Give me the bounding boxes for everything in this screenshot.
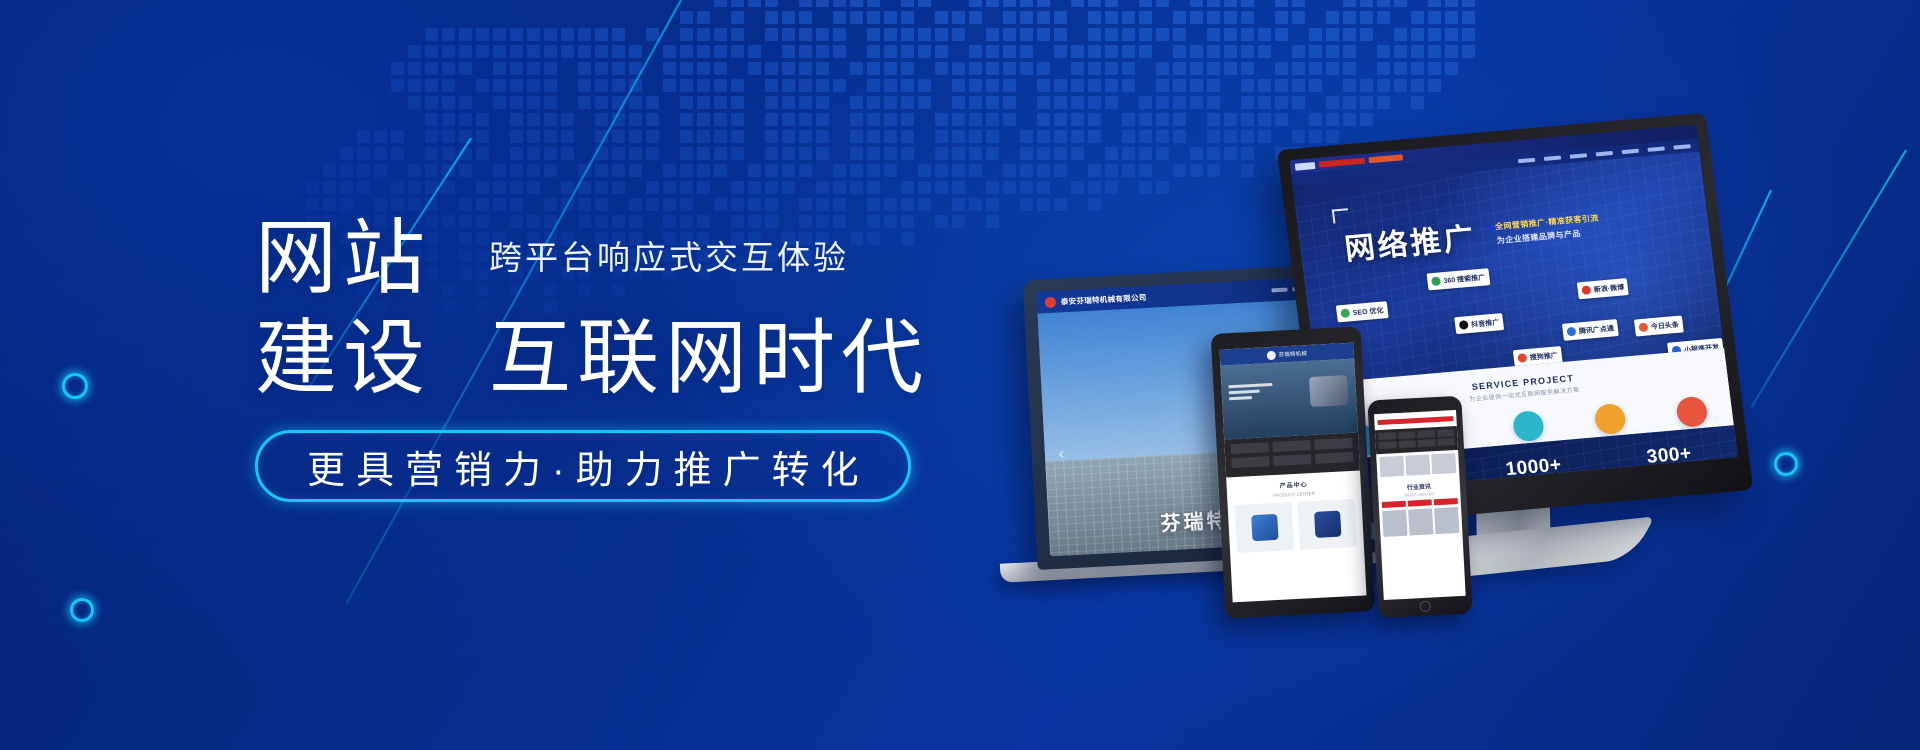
map-dot [867, 130, 880, 143]
map-dot [1258, 45, 1271, 58]
tablet-bezel: 芬瑞特机械 [1211, 326, 1376, 618]
map-dot [595, 45, 608, 58]
map-dot [493, 62, 506, 75]
map-dot [1122, 28, 1135, 41]
map-dot [595, 130, 608, 143]
map-dot [340, 181, 353, 194]
phone-grid-image[interactable] [1434, 507, 1459, 534]
phone-thumbnail[interactable] [1379, 456, 1404, 477]
map-dot [1309, 28, 1322, 41]
map-dot [765, 11, 778, 24]
map-dot [731, 45, 744, 58]
map-dot [765, 181, 778, 194]
map-dot [1224, 113, 1237, 126]
map-dot [748, 0, 761, 7]
map-dot [1156, 113, 1169, 126]
map-dot [459, 147, 472, 160]
map-dot [748, 181, 761, 194]
map-dot [1088, 79, 1101, 92]
map-dot [714, 96, 727, 109]
map-dot [1343, 45, 1356, 58]
map-dot [1428, 79, 1441, 92]
map-dot [1088, 0, 1101, 7]
map-dot [1139, 11, 1152, 24]
map-dot [1207, 113, 1220, 126]
map-dot [442, 147, 455, 160]
map-dot [1122, 45, 1135, 58]
map-dot [1309, 113, 1322, 126]
map-dot [935, 130, 948, 143]
brand-chip-swatch [1517, 353, 1527, 363]
map-dot [816, 198, 829, 211]
map-dot [799, 96, 812, 109]
map-dot [935, 147, 948, 160]
map-dot [867, 28, 880, 41]
map-dot [1207, 11, 1220, 24]
map-dot [493, 96, 506, 109]
map-dot [1224, 0, 1237, 7]
map-dot [527, 45, 540, 58]
map-dot [969, 164, 982, 177]
map-dot [1343, 28, 1356, 41]
phone-tag[interactable] [1382, 501, 1406, 508]
map-dot [561, 181, 574, 194]
map-dot [986, 181, 999, 194]
map-dot [1003, 181, 1016, 194]
map-dot [1326, 62, 1339, 75]
map-dot [1428, 11, 1441, 24]
map-dot [578, 62, 591, 75]
map-dot [748, 164, 761, 177]
map-dot [442, 79, 455, 92]
headline-accent: 互联网时代 [489, 318, 929, 400]
map-dot [986, 130, 999, 143]
map-dot [408, 164, 421, 177]
imac-nav-item[interactable] [1647, 146, 1664, 151]
map-dot [986, 79, 999, 92]
map-dot [986, 28, 999, 41]
map-dot [765, 28, 778, 41]
map-dot [476, 79, 489, 92]
map-dot [1020, 0, 1033, 7]
map-dot [1054, 164, 1067, 177]
map-dot [782, 79, 795, 92]
map-dot [629, 130, 642, 143]
map-dot [918, 28, 931, 41]
imac-nav-item[interactable] [1673, 144, 1690, 149]
phone-tag[interactable] [1434, 498, 1458, 505]
map-dot [1360, 11, 1373, 24]
map-dot [765, 62, 778, 75]
map-dot [867, 198, 880, 211]
map-dot [1411, 28, 1424, 41]
map-dot [1360, 79, 1373, 92]
map-dot [714, 28, 727, 41]
headline-row-1: 网站 跨平台响应式交互体验 [255, 218, 1075, 300]
map-dot [493, 198, 506, 211]
tablet-menu-item[interactable] [1231, 456, 1269, 468]
map-dot [731, 79, 744, 92]
map-dot [1020, 130, 1033, 143]
map-dot [442, 62, 455, 75]
tablet-product-card[interactable] [1298, 499, 1357, 550]
ring-left-upper [62, 373, 88, 399]
map-dot [884, 198, 897, 211]
map-dot [884, 79, 897, 92]
map-dot [799, 0, 812, 7]
map-dot [833, 164, 846, 177]
map-dot [425, 79, 438, 92]
map-dot [578, 181, 591, 194]
map-dot [1037, 164, 1050, 177]
map-dot [1173, 11, 1186, 24]
phone-nav-item[interactable] [1437, 438, 1455, 446]
map-dot [510, 113, 523, 126]
map-dot [748, 62, 761, 75]
map-dot [527, 28, 540, 41]
map-dot [391, 198, 404, 211]
imac-topbar-banner-2 [1368, 154, 1403, 163]
map-dot [850, 164, 863, 177]
map-dot [1037, 198, 1050, 211]
map-dot [459, 62, 472, 75]
map-dot [612, 113, 625, 126]
map-dot [1122, 11, 1135, 24]
map-dot [748, 198, 761, 211]
map-dot [1275, 0, 1288, 7]
map-dot [1343, 0, 1356, 7]
map-dot [884, 11, 897, 24]
map-dot [1445, 0, 1458, 7]
map-dot [612, 181, 625, 194]
map-dot [527, 164, 540, 177]
map-dot [765, 0, 778, 7]
phone-nav-item[interactable] [1436, 429, 1454, 437]
map-dot [901, 45, 914, 58]
map-dot [918, 96, 931, 109]
map-dot [799, 147, 812, 160]
map-dot [680, 164, 693, 177]
tablet-menu-item[interactable] [1230, 442, 1268, 454]
map-dot [1156, 28, 1169, 41]
tablet-menu-item[interactable] [1272, 440, 1310, 452]
map-dot [595, 113, 608, 126]
map-dot [1258, 28, 1271, 41]
map-dot [1054, 28, 1067, 41]
map-dot [357, 130, 370, 143]
map-dot [952, 130, 965, 143]
brand-chip-label: 腾讯广点通 [1578, 323, 1614, 336]
map-dot [561, 28, 574, 41]
map-dot [1173, 45, 1186, 58]
map-dot [1105, 96, 1118, 109]
phone-grid-image[interactable] [1382, 510, 1407, 537]
map-dot [680, 147, 693, 160]
map-dot [850, 11, 863, 24]
map-dot [459, 96, 472, 109]
map-dot [1003, 0, 1016, 7]
map-dot [1003, 11, 1016, 24]
map-dot [1037, 181, 1050, 194]
map-dot [833, 79, 846, 92]
map-dot [595, 147, 608, 160]
map-dot [1173, 79, 1186, 92]
map-dot [1377, 62, 1390, 75]
map-dot [544, 113, 557, 126]
map-dot [544, 79, 557, 92]
map-dot [1003, 28, 1016, 41]
map-dot [1292, 62, 1305, 75]
map-dot [1343, 96, 1356, 109]
map-dot [459, 45, 472, 58]
map-dot [391, 79, 404, 92]
phone-nav-item[interactable] [1379, 441, 1397, 449]
map-dot [901, 113, 914, 126]
map-dot [1071, 62, 1084, 75]
map-dot [1054, 45, 1067, 58]
map-dot [1394, 45, 1407, 58]
map-dot [612, 28, 625, 41]
map-dot [782, 28, 795, 41]
map-dot [1071, 147, 1084, 160]
map-dot [510, 62, 523, 75]
map-dot [561, 147, 574, 160]
map-dot [1258, 113, 1271, 126]
map-dot [1207, 28, 1220, 41]
map-dot [1020, 45, 1033, 58]
tablet-menu-item[interactable] [1315, 452, 1353, 464]
map-dot [357, 147, 370, 160]
map-dot [646, 147, 659, 160]
imac-nav-item[interactable] [1518, 157, 1535, 162]
map-dot [408, 181, 421, 194]
map-dot [1071, 45, 1084, 58]
map-dot [952, 96, 965, 109]
map-dot [697, 96, 710, 109]
map-dot [493, 28, 506, 41]
tablet-menu-item[interactable] [1314, 438, 1352, 450]
map-dot [544, 164, 557, 177]
map-dot [1071, 113, 1084, 126]
map-dot [1462, 0, 1475, 7]
map-dot [850, 0, 863, 7]
map-dot [714, 130, 727, 143]
map-dot [901, 79, 914, 92]
imac-nav-item[interactable] [1621, 148, 1638, 153]
phone-nav-item[interactable] [1378, 432, 1396, 440]
map-dot [527, 130, 540, 143]
map-dot [391, 130, 404, 143]
map-dot [1054, 79, 1067, 92]
map-dot [408, 62, 421, 75]
tablet-menu-item[interactable] [1273, 454, 1311, 466]
map-dot [595, 62, 608, 75]
map-dot [918, 45, 931, 58]
map-dot [561, 198, 574, 211]
map-dot [680, 62, 693, 75]
map-dot [799, 62, 812, 75]
map-dot [799, 79, 812, 92]
map-dot [629, 79, 642, 92]
map-dot [493, 181, 506, 194]
map-dot [833, 198, 846, 211]
map-dot [476, 28, 489, 41]
tablet-site-company: 芬瑞特机械 [1278, 349, 1307, 358]
tablet-product-image [1251, 514, 1278, 541]
map-dot [527, 113, 540, 126]
map-dot [952, 113, 965, 126]
phone-thumbnail[interactable] [1431, 453, 1456, 474]
map-dot [867, 0, 880, 7]
map-dot [952, 62, 965, 75]
map-dot [731, 0, 744, 7]
map-dot [816, 96, 829, 109]
map-dot [459, 198, 472, 211]
map-dot [697, 79, 710, 92]
map-dot [714, 0, 727, 7]
map-dot [935, 113, 948, 126]
map-dot [714, 45, 727, 58]
map-dot [850, 147, 863, 160]
map-dot [1377, 79, 1390, 92]
phone-thumbnail[interactable] [1405, 454, 1430, 475]
map-dot [1224, 45, 1237, 58]
map-dot [1377, 11, 1390, 24]
map-dot [901, 181, 914, 194]
map-dot [663, 79, 676, 92]
map-dot [442, 181, 455, 194]
imac-nav-item[interactable] [1544, 155, 1561, 160]
map-dot [1360, 113, 1373, 126]
map-dot [731, 96, 744, 109]
map-dot [697, 62, 710, 75]
phone-nav-item[interactable] [1398, 440, 1416, 448]
map-dot [1020, 164, 1033, 177]
imac-nav-item[interactable] [1570, 153, 1587, 158]
map-dot [1292, 11, 1305, 24]
map-dot [1411, 45, 1424, 58]
map-dot [1105, 62, 1118, 75]
map-dot [476, 45, 489, 58]
map-dot [442, 113, 455, 126]
map-dot [799, 130, 812, 143]
map-dot [731, 11, 744, 24]
brand-chip-label: 360 搜索推广 [1443, 272, 1486, 286]
tablet-product-card[interactable] [1235, 502, 1294, 553]
map-dot [1088, 11, 1101, 24]
map-dot [510, 96, 523, 109]
brand-chip-label: 搜狗推广 [1529, 350, 1558, 362]
map-dot [425, 130, 438, 143]
map-dot [901, 11, 914, 24]
map-dot [595, 79, 608, 92]
phone-nav-item[interactable] [1398, 431, 1416, 439]
hero-banner: 网站 跨平台响应式交互体验 建设 互联网时代 更具营销力·助力推广转化 泰安芬瑞… [0, 0, 1920, 750]
phone-screen: 行业资讯 NEWS CENTER [1374, 410, 1466, 600]
map-dot [357, 181, 370, 194]
map-dot [374, 147, 387, 160]
brand-chip-label: 今日头条 [1650, 319, 1679, 331]
map-dot [1037, 62, 1050, 75]
map-dot [969, 79, 982, 92]
map-dot [731, 130, 744, 143]
map-dot [867, 96, 880, 109]
map-dot [1037, 113, 1050, 126]
headline-line-2: 建设 [255, 318, 431, 400]
map-dot [901, 96, 914, 109]
map-dot [1258, 79, 1271, 92]
map-dot [1394, 0, 1407, 7]
map-dot [1173, 28, 1186, 41]
map-dot [901, 130, 914, 143]
map-dot [1394, 79, 1407, 92]
map-dot [1411, 11, 1424, 24]
map-dot [833, 28, 846, 41]
phone-home-button[interactable] [1419, 601, 1431, 613]
map-dot [1071, 181, 1084, 194]
map-dot [935, 164, 948, 177]
map-dot [629, 198, 642, 211]
map-dot [952, 11, 965, 24]
phone-nav-item[interactable] [1417, 430, 1435, 438]
map-dot [1241, 62, 1254, 75]
map-dot [1122, 62, 1135, 75]
map-dot [663, 62, 676, 75]
map-dot [867, 62, 880, 75]
map-dot [816, 28, 829, 41]
map-dot [510, 130, 523, 143]
map-dot [1428, 0, 1441, 7]
map-dot [986, 45, 999, 58]
laptop-nav-item[interactable] [1271, 288, 1287, 293]
map-dot [816, 0, 829, 7]
map-dot [1122, 79, 1135, 92]
map-dot [663, 198, 676, 211]
map-dot [697, 181, 710, 194]
map-dot [1088, 113, 1101, 126]
tagline-text: 更具营销力·助力推广转化 [296, 439, 870, 494]
map-dot [646, 96, 659, 109]
phone-nav-item[interactable] [1417, 439, 1435, 447]
map-dot [731, 181, 744, 194]
map-dot [680, 45, 693, 58]
map-dot [969, 113, 982, 126]
imac-nav-item[interactable] [1596, 150, 1613, 155]
map-dot [1156, 79, 1169, 92]
map-dot [1156, 0, 1169, 7]
map-dot [1190, 0, 1203, 7]
phone-grid-image[interactable] [1408, 508, 1433, 535]
map-dot [884, 147, 897, 160]
map-dot [1326, 45, 1339, 58]
map-dot [1241, 96, 1254, 109]
map-dot [850, 181, 863, 194]
map-dot [1037, 11, 1050, 24]
map-dot [1190, 45, 1203, 58]
map-dot [425, 147, 438, 160]
map-dot [306, 181, 319, 194]
map-dot [935, 181, 948, 194]
phone-tag[interactable] [1408, 499, 1432, 506]
map-dot [425, 28, 438, 41]
map-dot [765, 130, 778, 143]
map-dot [952, 28, 965, 41]
map-dot [646, 198, 659, 211]
map-dot [1037, 28, 1050, 41]
laptop-hero-prev-arrow[interactable]: ‹ [1058, 445, 1064, 463]
tablet-site-logo-icon [1266, 350, 1275, 359]
map-dot [765, 164, 778, 177]
